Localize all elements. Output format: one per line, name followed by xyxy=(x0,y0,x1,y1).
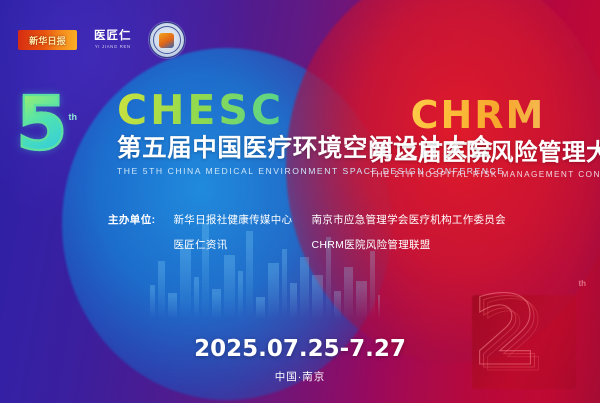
decorative-numeral-2: 2 2 2 th xyxy=(462,275,592,395)
yijiangren-logo: 医匠仁 YI JIANG REN xyxy=(94,31,132,49)
yijiangren-logo-cn: 医匠仁 xyxy=(94,31,132,43)
organizer-item: CHRM医院风险管理联盟 xyxy=(312,237,506,252)
chrm-en-title: THE 2TH HOSPITAL RISK MANAGEMENT CONFERE… xyxy=(370,170,586,179)
edition-numeral-5: 5 xyxy=(16,96,68,154)
organizer-item: 医匠仁资讯 xyxy=(174,237,304,252)
organizer-item: 南京市应急管理学会医疗机构工作委员会 xyxy=(312,212,506,227)
organizer-item: 新华日报社健康传媒中心 xyxy=(174,212,304,227)
decorative-2-suffix: th xyxy=(578,279,586,288)
decorative-2-stroke-1: 2 xyxy=(472,283,539,379)
xinhua-daily-logo-text: 新华日报 xyxy=(29,34,66,47)
yijiangren-logo-en: YI JIANG REN xyxy=(95,45,131,49)
chrm-cn-title: 第二届医院风险管理大会 xyxy=(370,139,586,165)
sponsor-logo-row: 新华日报 医匠仁 YI JIANG REN xyxy=(18,22,185,58)
organizers-section: 主办单位: 新华日报社健康传媒中心 医匠仁资讯 南京市应急管理学会医疗机构工作委… xyxy=(108,212,506,252)
edition-numeral-glyph: 5 xyxy=(16,81,68,167)
conference-poster: 新华日报 医匠仁 YI JIANG REN 5 th CHESC 第五届中国医疗… xyxy=(0,0,600,403)
xinhua-daily-logo: 新华日报 xyxy=(18,30,77,50)
edition-suffix-th: th xyxy=(69,112,78,122)
organizers-label: 主办单位: xyxy=(108,212,156,252)
association-seal-logo xyxy=(149,22,185,58)
association-seal-emblem-icon xyxy=(159,33,174,48)
right-conference-block: CHRM 第二届医院风险管理大会 THE 2TH HOSPITAL RISK M… xyxy=(370,96,586,179)
organizers-column-two: 南京市应急管理学会医疗机构工作委员会 CHRM医院风险管理联盟 xyxy=(312,212,506,252)
organizers-column-one: 新华日报社健康传媒中心 医匠仁资讯 xyxy=(174,212,304,252)
chrm-acronym: CHRM xyxy=(370,96,586,134)
